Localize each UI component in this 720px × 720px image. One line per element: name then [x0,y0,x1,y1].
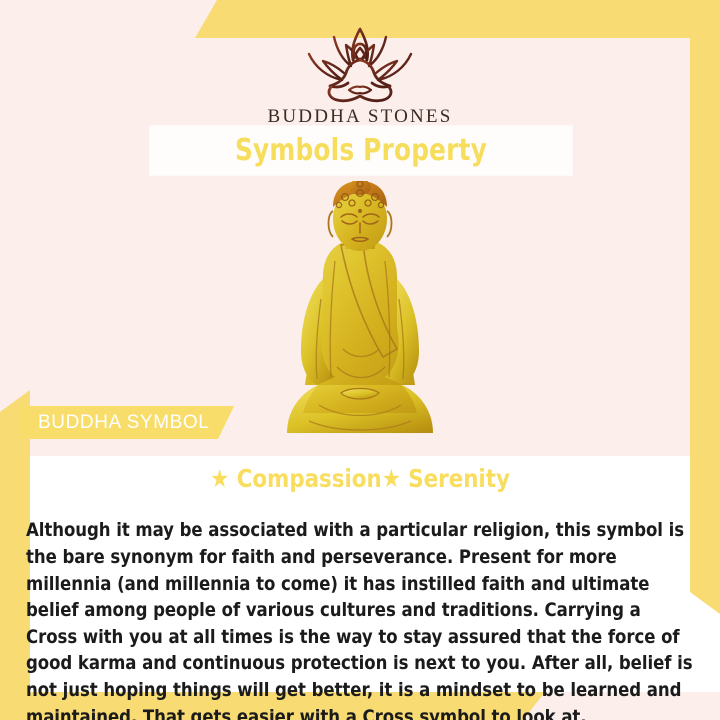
hero-image-container [0,178,720,443]
page-title: Symbols Property [235,133,487,168]
golden-buddha-statue-image [279,181,441,443]
brand-logo: BUDDHA STONES [0,24,720,128]
infographic-page: BUDDHA STONES Symbols Property [0,0,720,720]
traits-heading-text: ★ Compassion★ Serenity [210,464,510,493]
traits-heading: ★ Compassion★ Serenity [18,464,702,493]
title-banner: Symbols Property [150,126,572,175]
lotus-meditation-icon [287,24,433,104]
symbol-tag-label: BUDDHA SYMBOL [20,412,209,434]
symbol-tag: BUDDHA SYMBOL [20,406,234,439]
description-paragraph: Although it may be associated with a par… [26,518,694,720]
brand-name: BUDDHA STONES [0,106,720,128]
